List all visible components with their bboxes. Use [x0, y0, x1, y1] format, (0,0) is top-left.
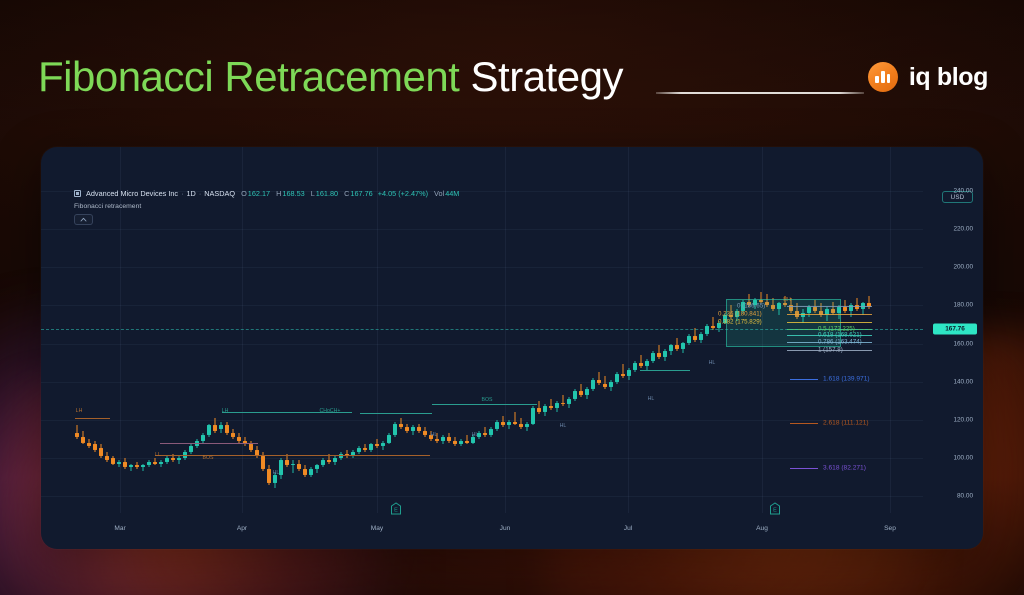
candle-body: [441, 437, 445, 441]
candle-wick: [604, 376, 605, 389]
candlestick: [555, 401, 559, 412]
candle-body: [369, 444, 373, 450]
candle-body: [447, 437, 451, 441]
candlestick: [123, 458, 127, 469]
candle-body: [273, 475, 277, 483]
candle-body: [453, 441, 457, 445]
structure-line: [260, 455, 430, 456]
candlestick: [651, 351, 655, 362]
fibonacci-extension-line: [790, 379, 818, 380]
candlestick: [609, 380, 613, 391]
price-tick-label: 240.00: [929, 188, 973, 195]
structure-line: [640, 370, 690, 371]
candlestick: [447, 433, 451, 443]
brand-logo: iq blog: [868, 62, 988, 92]
candle-body: [591, 380, 595, 390]
candle-body: [207, 425, 211, 435]
trading-chart-panel[interactable]: Advanced Micro Devices Inc · 1D · NASDAQ…: [41, 147, 983, 549]
price-tick-label: 220.00: [929, 226, 973, 233]
candlestick: [93, 441, 97, 452]
candlestick: [669, 344, 673, 355]
fibonacci-level-label: 0.236 (180.841): [718, 311, 762, 318]
price-tick-label: 80.00: [929, 492, 973, 499]
fibonacci-level-line: [787, 322, 872, 323]
candlestick: [507, 420, 511, 430]
candle-body: [483, 433, 487, 435]
candlestick: [453, 437, 457, 447]
candle-wick: [598, 372, 599, 385]
candle-body: [555, 403, 559, 409]
candle-body: [549, 406, 553, 408]
candle-body: [585, 389, 589, 395]
candlestick: [309, 467, 313, 477]
candlestick: [381, 441, 385, 451]
candle-body: [213, 425, 217, 431]
price-tick-label: 200.00: [929, 264, 973, 271]
candle-body: [579, 391, 583, 395]
candle-body: [147, 462, 151, 466]
page-title: Fibonacci Retracement Strategy: [38, 53, 623, 101]
candle-body: [189, 446, 193, 452]
candlestick: [87, 439, 91, 449]
last-price-badge: 167.76: [933, 323, 977, 334]
candlestick: [237, 433, 241, 443]
candlestick: [855, 298, 859, 311]
candle-body: [489, 429, 493, 435]
candle-body: [399, 424, 403, 428]
candle-body: [93, 444, 97, 450]
candle-body: [225, 425, 229, 433]
candlestick: [363, 444, 367, 452]
candle-wick: [292, 460, 293, 473]
structure-line: [360, 413, 432, 414]
candle-body: [705, 326, 709, 334]
candlestick: [681, 342, 685, 353]
price-axis[interactable]: USD 167.76 240.00220.00200.00180.00160.0…: [923, 147, 983, 549]
candlestick: [357, 446, 361, 454]
candle-body: [111, 458, 115, 464]
candle-body: [507, 422, 511, 426]
candlestick: [573, 389, 577, 400]
candlestick: [459, 439, 463, 447]
candlestick: [387, 433, 391, 444]
price-tick-label: 160.00: [929, 340, 973, 347]
candlestick: [291, 460, 295, 473]
candle-body: [597, 380, 601, 384]
candle-body: [177, 458, 181, 460]
candle-body: [417, 427, 421, 431]
candlestick: [399, 418, 403, 429]
fibonacci-extension-label: 1.618 (139.971): [823, 376, 870, 383]
candle-wick: [562, 395, 563, 406]
fibonacci-level-label: 1 (157.8): [818, 347, 843, 354]
structure-line: [75, 418, 110, 419]
time-tick-label: May: [371, 525, 383, 532]
candlestick: [405, 424, 409, 434]
candlestick: [81, 431, 85, 444]
candle-body: [357, 448, 361, 452]
candlestick: [285, 454, 289, 467]
candle-body: [267, 469, 271, 482]
candlestick: [255, 446, 259, 457]
candle-body: [537, 408, 541, 412]
candlestick: [333, 456, 337, 466]
chart-inner: Advanced Micro Devices Inc · 1D · NASDAQ…: [41, 147, 983, 549]
candle-body: [411, 427, 415, 431]
candle-body: [159, 462, 163, 464]
candle-body: [387, 435, 391, 443]
candlestick: [225, 422, 229, 435]
candle-body: [81, 437, 85, 443]
candle-body: [513, 422, 517, 424]
candle-body: [687, 336, 691, 344]
candle-body: [657, 353, 661, 357]
candlestick: [243, 437, 247, 447]
candle-body: [603, 384, 607, 388]
candle-body: [219, 425, 223, 429]
candlestick: [561, 395, 565, 406]
candle-body: [393, 424, 397, 435]
candle-body: [87, 443, 91, 447]
candle-body: [519, 424, 523, 428]
candle-body: [297, 464, 301, 470]
page-header: Fibonacci Retracement Strategy iq blog: [0, 0, 1024, 140]
candle-body: [663, 351, 667, 357]
candlestick: [75, 425, 79, 438]
candlestick: [147, 460, 151, 468]
structure-label: HL: [431, 432, 438, 438]
candlestick: [549, 399, 553, 410]
candle-wick: [640, 355, 641, 368]
time-tick-label: Apr: [237, 525, 247, 532]
candlestick: [639, 355, 643, 368]
candle-body: [405, 427, 409, 431]
candlestick: [105, 452, 109, 462]
structure-label: HL: [273, 470, 280, 476]
fibonacci-level-line: [787, 306, 872, 307]
bar-chart-icon: [868, 62, 898, 92]
candle-body: [201, 435, 205, 441]
structure-label: HL: [560, 423, 567, 429]
candlestick: [141, 464, 145, 472]
candle-body: [381, 443, 385, 447]
candlestick: [699, 332, 703, 343]
candlestick: [111, 456, 115, 466]
title-divider: [656, 92, 864, 94]
candlestick: [585, 387, 589, 398]
candlestick: [567, 397, 571, 408]
candle-body: [363, 448, 367, 450]
candle-wick: [160, 460, 161, 468]
candlestick: [489, 427, 493, 437]
candle-body: [249, 444, 253, 450]
candle-body: [645, 361, 649, 367]
candlestick: [135, 462, 139, 470]
candlestick: [201, 433, 205, 443]
candle-body: [615, 374, 619, 382]
candlestick: [663, 349, 667, 360]
candlestick: [417, 424, 421, 434]
time-axis[interactable]: MarAprMayJunJulAugSepEE: [41, 515, 923, 549]
candle-body: [315, 465, 319, 469]
candle-body: [501, 422, 505, 426]
candle-body: [321, 460, 325, 466]
candle-body: [669, 345, 673, 351]
earnings-marker-icon[interactable]: E: [770, 502, 781, 515]
candlestick: [267, 465, 271, 484]
time-tick-label: Mar: [114, 525, 125, 532]
price-tick-label: 140.00: [929, 378, 973, 385]
candlestick: [165, 456, 169, 464]
candlestick: [675, 338, 679, 351]
candle-body: [171, 458, 175, 460]
candle-body: [639, 363, 643, 367]
fibonacci-level-label: 0.382 (175.829): [718, 319, 762, 326]
candle-body: [303, 469, 307, 475]
candlestick: [219, 422, 223, 433]
structure-label: BOS: [482, 397, 493, 403]
candle-body: [105, 456, 109, 460]
candlestick: [441, 435, 445, 445]
candlestick: [465, 435, 469, 445]
candle-body: [75, 433, 79, 437]
candlestick: [159, 460, 163, 468]
candlestick: [537, 401, 541, 414]
candlestick: [645, 359, 649, 370]
candlestick: [705, 324, 709, 335]
structure-label: LL: [155, 452, 161, 458]
candlestick: [321, 458, 325, 468]
candlestick: [687, 334, 691, 345]
fibonacci-extension-label: 2.618 (111.121): [823, 420, 869, 427]
candlestick: [315, 464, 319, 474]
candlestick: [627, 368, 631, 379]
candle-body: [465, 441, 469, 443]
candle-body: [327, 460, 331, 462]
structure-label: HL: [709, 360, 716, 366]
candle-wick: [118, 460, 119, 468]
svg-text:E: E: [394, 508, 398, 514]
candle-body: [525, 424, 529, 428]
candle-body: [153, 462, 157, 464]
fibonacci-level-label: 0 (186.65): [737, 303, 765, 310]
page-title-plain: Strategy: [471, 53, 623, 100]
structure-label: CHoCH+: [320, 408, 341, 414]
fibonacci-level-label: 0.618 (168.621): [818, 332, 862, 339]
candle-body: [237, 437, 241, 441]
candlestick: [213, 418, 217, 433]
candle-body: [633, 363, 637, 371]
candle-body: [99, 448, 103, 456]
structure-label: LH: [222, 408, 229, 414]
candle-body: [165, 458, 169, 462]
candlestick: [207, 424, 211, 437]
candle-body: [495, 422, 499, 430]
candlestick: [231, 429, 235, 439]
fibonacci-level-line: [787, 314, 872, 315]
brand-name: iq blog: [909, 63, 988, 92]
candlestick: [495, 420, 499, 431]
candlestick: [189, 444, 193, 454]
candlestick: [513, 412, 517, 425]
candlestick: [657, 345, 661, 358]
candle-body: [573, 391, 577, 399]
candle-body: [675, 345, 679, 349]
structure-line: [160, 443, 258, 444]
candle-body: [621, 374, 625, 376]
fibonacci-extension-line: [790, 468, 818, 469]
candle-body: [117, 462, 121, 464]
time-tick-label: Jun: [500, 525, 511, 532]
candle-body: [435, 439, 439, 441]
candlestick: [693, 328, 697, 341]
candlestick: [177, 456, 181, 464]
candlestick: [411, 425, 415, 435]
candlestick: [375, 439, 379, 449]
candle-body: [333, 458, 337, 462]
candlestick: [393, 422, 397, 437]
page-title-accent: Fibonacci Retracement: [38, 53, 459, 100]
candlestick: [483, 427, 487, 437]
time-tick-label: Sep: [884, 525, 896, 532]
candle-body: [423, 431, 427, 435]
candle-body: [567, 399, 571, 405]
candlestick: [579, 384, 583, 397]
structure-label: HL: [472, 432, 479, 438]
candle-body: [543, 406, 547, 412]
candlestick: [633, 361, 637, 372]
candlestick: [129, 464, 133, 472]
candle-wick: [550, 399, 551, 410]
earnings-marker-icon[interactable]: E: [391, 502, 402, 515]
candlestick: [153, 458, 157, 466]
svg-text:E: E: [773, 508, 777, 514]
candlestick: [621, 364, 625, 377]
fibonacci-extension-line: [790, 423, 818, 424]
candlestick: [591, 378, 595, 391]
candle-body: [309, 469, 313, 475]
candlestick: [597, 372, 601, 385]
structure-label: BOS: [203, 455, 214, 461]
candlestick: [99, 444, 103, 457]
candlestick: [519, 418, 523, 429]
candle-body: [609, 382, 613, 388]
candlestick: [525, 422, 529, 432]
candle-body: [699, 334, 703, 340]
fibonacci-level-label: 0.786 (163.474): [818, 339, 862, 346]
candlestick: [303, 465, 307, 476]
candle-body: [231, 433, 235, 437]
candle-body: [285, 460, 289, 466]
candle-body: [843, 307, 847, 311]
fibonacci-extension-label: 3.618 (82.271): [823, 465, 866, 472]
candle-body: [681, 343, 685, 349]
candle-body: [531, 408, 535, 423]
candle-body: [651, 353, 655, 361]
candle-wick: [466, 435, 467, 445]
candle-body: [261, 456, 265, 469]
candle-body: [693, 336, 697, 340]
structure-line: [432, 404, 537, 405]
candlestick: [861, 302, 865, 315]
structure-label: HL: [648, 396, 655, 402]
candlestick: [117, 460, 121, 468]
candlestick: [867, 296, 871, 309]
candlestick: [543, 404, 547, 415]
price-tick-label: 100.00: [929, 454, 973, 461]
candlestick: [615, 372, 619, 383]
candlestick: [345, 450, 349, 458]
current-price-line: [41, 329, 923, 330]
time-tick-label: Aug: [756, 525, 768, 532]
candlestick: [501, 416, 505, 427]
candle-body: [459, 441, 463, 445]
candlestick: [603, 376, 607, 389]
candlestick: [369, 443, 373, 453]
candlestick: [423, 427, 427, 437]
time-tick-label: Jul: [624, 525, 632, 532]
price-tick-label: 120.00: [929, 416, 973, 423]
candlestick: [297, 460, 301, 471]
candle-body: [123, 462, 127, 468]
structure-label: LH: [76, 408, 83, 414]
candlestick: [531, 406, 535, 425]
candle-body: [627, 370, 631, 376]
candlestick: [351, 450, 355, 458]
price-tick-label: 180.00: [929, 302, 973, 309]
